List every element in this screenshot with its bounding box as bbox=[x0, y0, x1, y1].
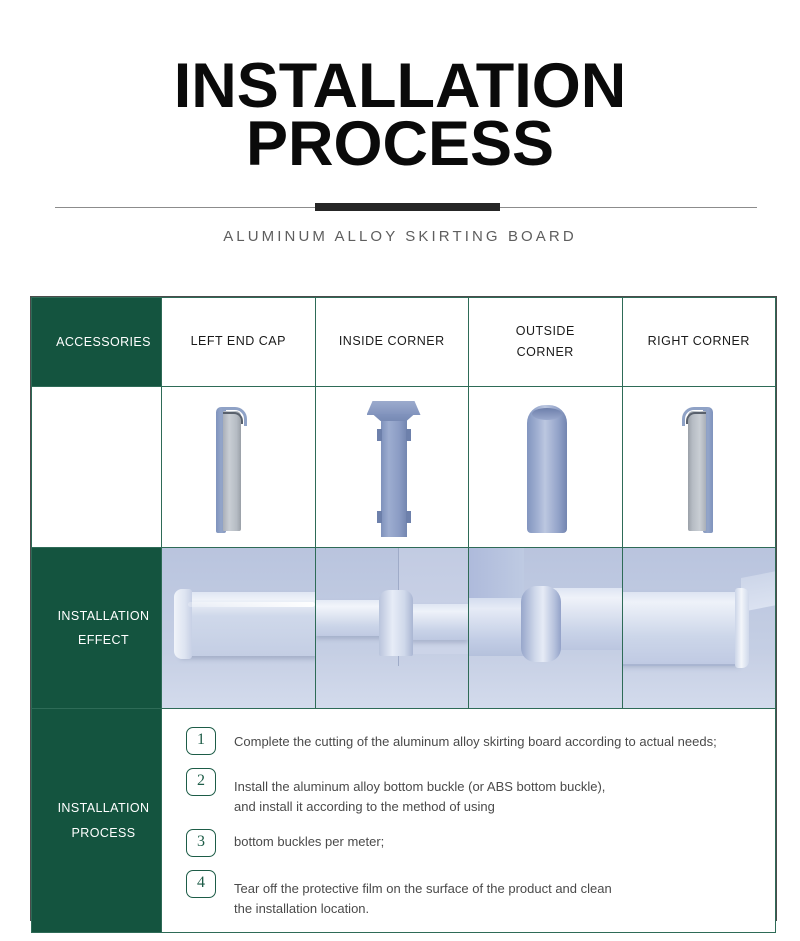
effect-skirting-board bbox=[623, 592, 740, 664]
page-title-line-2: PROCESS bbox=[0, 116, 800, 174]
right-corner-installed-image bbox=[623, 548, 776, 708]
list-item: 3 bottom buckles per meter; bbox=[186, 829, 759, 857]
inside-corner-clip bbox=[377, 429, 382, 441]
outside-corner-effect-render bbox=[469, 548, 622, 708]
effect-inside-corner-joint bbox=[379, 590, 413, 656]
cell-inside-corner-part bbox=[315, 387, 469, 548]
inside-corner-body bbox=[381, 419, 407, 537]
outside-corner-render bbox=[469, 387, 622, 547]
inside-corner-render bbox=[316, 387, 469, 547]
inside-corner-clip bbox=[406, 511, 411, 523]
cell-inside-corner-installed bbox=[315, 548, 469, 709]
row-label-line-1: INSTALLATION bbox=[46, 796, 161, 820]
table-header-row: ACCESSORIES LEFT END CAP INSIDE CORNER O… bbox=[32, 298, 776, 387]
cell-left-end-cap-part bbox=[162, 387, 316, 548]
outside-corner-part-image bbox=[469, 387, 622, 547]
page-header: INSTALLATION PROCESS ALUMINUM ALLOY SKIR… bbox=[0, 0, 800, 245]
effect-end-cap bbox=[174, 589, 192, 659]
right-corner-face bbox=[688, 411, 706, 531]
table-row: INSTALLATION PROCESS 1 Complete the cutt… bbox=[32, 709, 776, 933]
outside-corner-icon bbox=[527, 405, 567, 533]
inside-corner-effect-render bbox=[316, 548, 469, 708]
end-cap-icon bbox=[214, 407, 244, 531]
step-number-badge: 2 bbox=[186, 768, 216, 796]
inside-corner-installed-image bbox=[316, 548, 469, 708]
outside-corner-lip bbox=[532, 408, 562, 420]
right-corner-effect-render bbox=[623, 548, 776, 708]
step-number-badge: 4 bbox=[186, 870, 216, 898]
step-text: Complete the cutting of the aluminum all… bbox=[234, 729, 717, 752]
cell-right-corner-part bbox=[622, 387, 776, 548]
cell-right-corner-installed bbox=[622, 548, 776, 709]
header-cell-accessories: ACCESSORIES bbox=[32, 298, 162, 387]
end-cap-effect-render bbox=[162, 548, 315, 708]
effect-floor bbox=[162, 654, 315, 708]
inside-corner-clip bbox=[377, 511, 382, 523]
header-cell-left-end-cap: LEFT END CAP bbox=[162, 298, 316, 387]
inside-corner-cap-bevel bbox=[373, 414, 415, 421]
row-label-accessories-display: ACCESSORIES DISPLAY bbox=[32, 387, 162, 548]
row-label-installation-effect: INSTALLATION EFFECT bbox=[32, 548, 162, 709]
effect-skirting-board-right bbox=[410, 604, 468, 640]
effect-right-corner-cap bbox=[735, 588, 749, 668]
list-item: 1 Complete the cutting of the aluminum a… bbox=[186, 727, 759, 755]
row-label-line-1: ACCESSORIES bbox=[46, 443, 161, 467]
header-cell-right-corner: RIGHT CORNER bbox=[622, 298, 776, 387]
effect-outside-corner-bullnose bbox=[521, 586, 561, 662]
row-label-line-2: EFFECT bbox=[46, 628, 161, 652]
header-cell-inside-corner: INSIDE CORNER bbox=[315, 298, 469, 387]
list-item: 2 Install the aluminum alloy bottom buck… bbox=[186, 768, 759, 816]
left-end-cap-part-image bbox=[162, 387, 315, 547]
effect-floor bbox=[316, 654, 469, 708]
right-corner-hook-inner bbox=[686, 412, 706, 424]
outside-corner-installed-image bbox=[469, 548, 622, 708]
step-number-badge: 3 bbox=[186, 829, 216, 857]
row-label-installation-process: INSTALLATION PROCESS bbox=[32, 709, 162, 933]
step-number-badge: 1 bbox=[186, 727, 216, 755]
list-item: 4 Tear off the protective film on the su… bbox=[186, 870, 759, 918]
page-subtitle: ALUMINUM ALLOY SKIRTING BOARD bbox=[0, 228, 800, 245]
right-corner-part-image bbox=[623, 387, 776, 547]
row-label-line-2: PROCESS bbox=[46, 821, 161, 845]
header-label-outside-corner: OUTSIDE CORNER bbox=[516, 324, 575, 359]
divider-accent-bar bbox=[315, 203, 500, 211]
effect-highlight bbox=[188, 602, 315, 607]
step-text: Install the aluminum alloy bottom buckle… bbox=[234, 774, 605, 816]
header-label-right-corner: RIGHT CORNER bbox=[648, 334, 750, 348]
table-row: INSTALLATION EFFECT bbox=[32, 548, 776, 709]
right-corner-render bbox=[623, 387, 776, 547]
header-label-left-end-cap: LEFT END CAP bbox=[191, 334, 286, 348]
end-cap-hook-inner bbox=[223, 412, 243, 424]
title-divider bbox=[0, 196, 800, 218]
row-label-line-2: DISPLAY bbox=[46, 467, 161, 491]
inside-corner-cap-top bbox=[367, 401, 421, 415]
header-label-accessories: ACCESSORIES bbox=[46, 330, 161, 354]
cell-installation-process: 1 Complete the cutting of the aluminum a… bbox=[162, 709, 776, 933]
inside-corner-clip bbox=[406, 429, 411, 441]
header-cell-outside-corner: OUTSIDE CORNER bbox=[469, 298, 623, 387]
process-step-list: 1 Complete the cutting of the aluminum a… bbox=[162, 709, 775, 932]
effect-board-ledge bbox=[623, 664, 739, 666]
effect-skirting-board-left bbox=[469, 598, 524, 656]
end-cap-face bbox=[223, 411, 241, 531]
step-text: bottom buckles per meter; bbox=[234, 829, 384, 852]
header-label-inside-corner: INSIDE CORNER bbox=[339, 334, 445, 348]
cell-left-end-cap-installed bbox=[162, 548, 316, 709]
right-corner-icon bbox=[685, 407, 715, 531]
inside-corner-icon bbox=[367, 401, 421, 537]
left-end-cap-installed-image bbox=[162, 548, 315, 708]
row-label-line-1: INSTALLATION bbox=[46, 604, 161, 628]
specification-table: ACCESSORIES LEFT END CAP INSIDE CORNER O… bbox=[30, 296, 777, 921]
cell-outside-corner-part bbox=[469, 387, 623, 548]
table-row: ACCESSORIES DISPLAY bbox=[32, 387, 776, 548]
cell-outside-corner-installed bbox=[469, 548, 623, 709]
page-title: INSTALLATION PROCESS bbox=[0, 58, 800, 174]
inside-corner-part-image bbox=[316, 387, 469, 547]
step-text: Tear off the protective film on the surf… bbox=[234, 876, 612, 918]
left-end-cap-render bbox=[162, 387, 315, 547]
